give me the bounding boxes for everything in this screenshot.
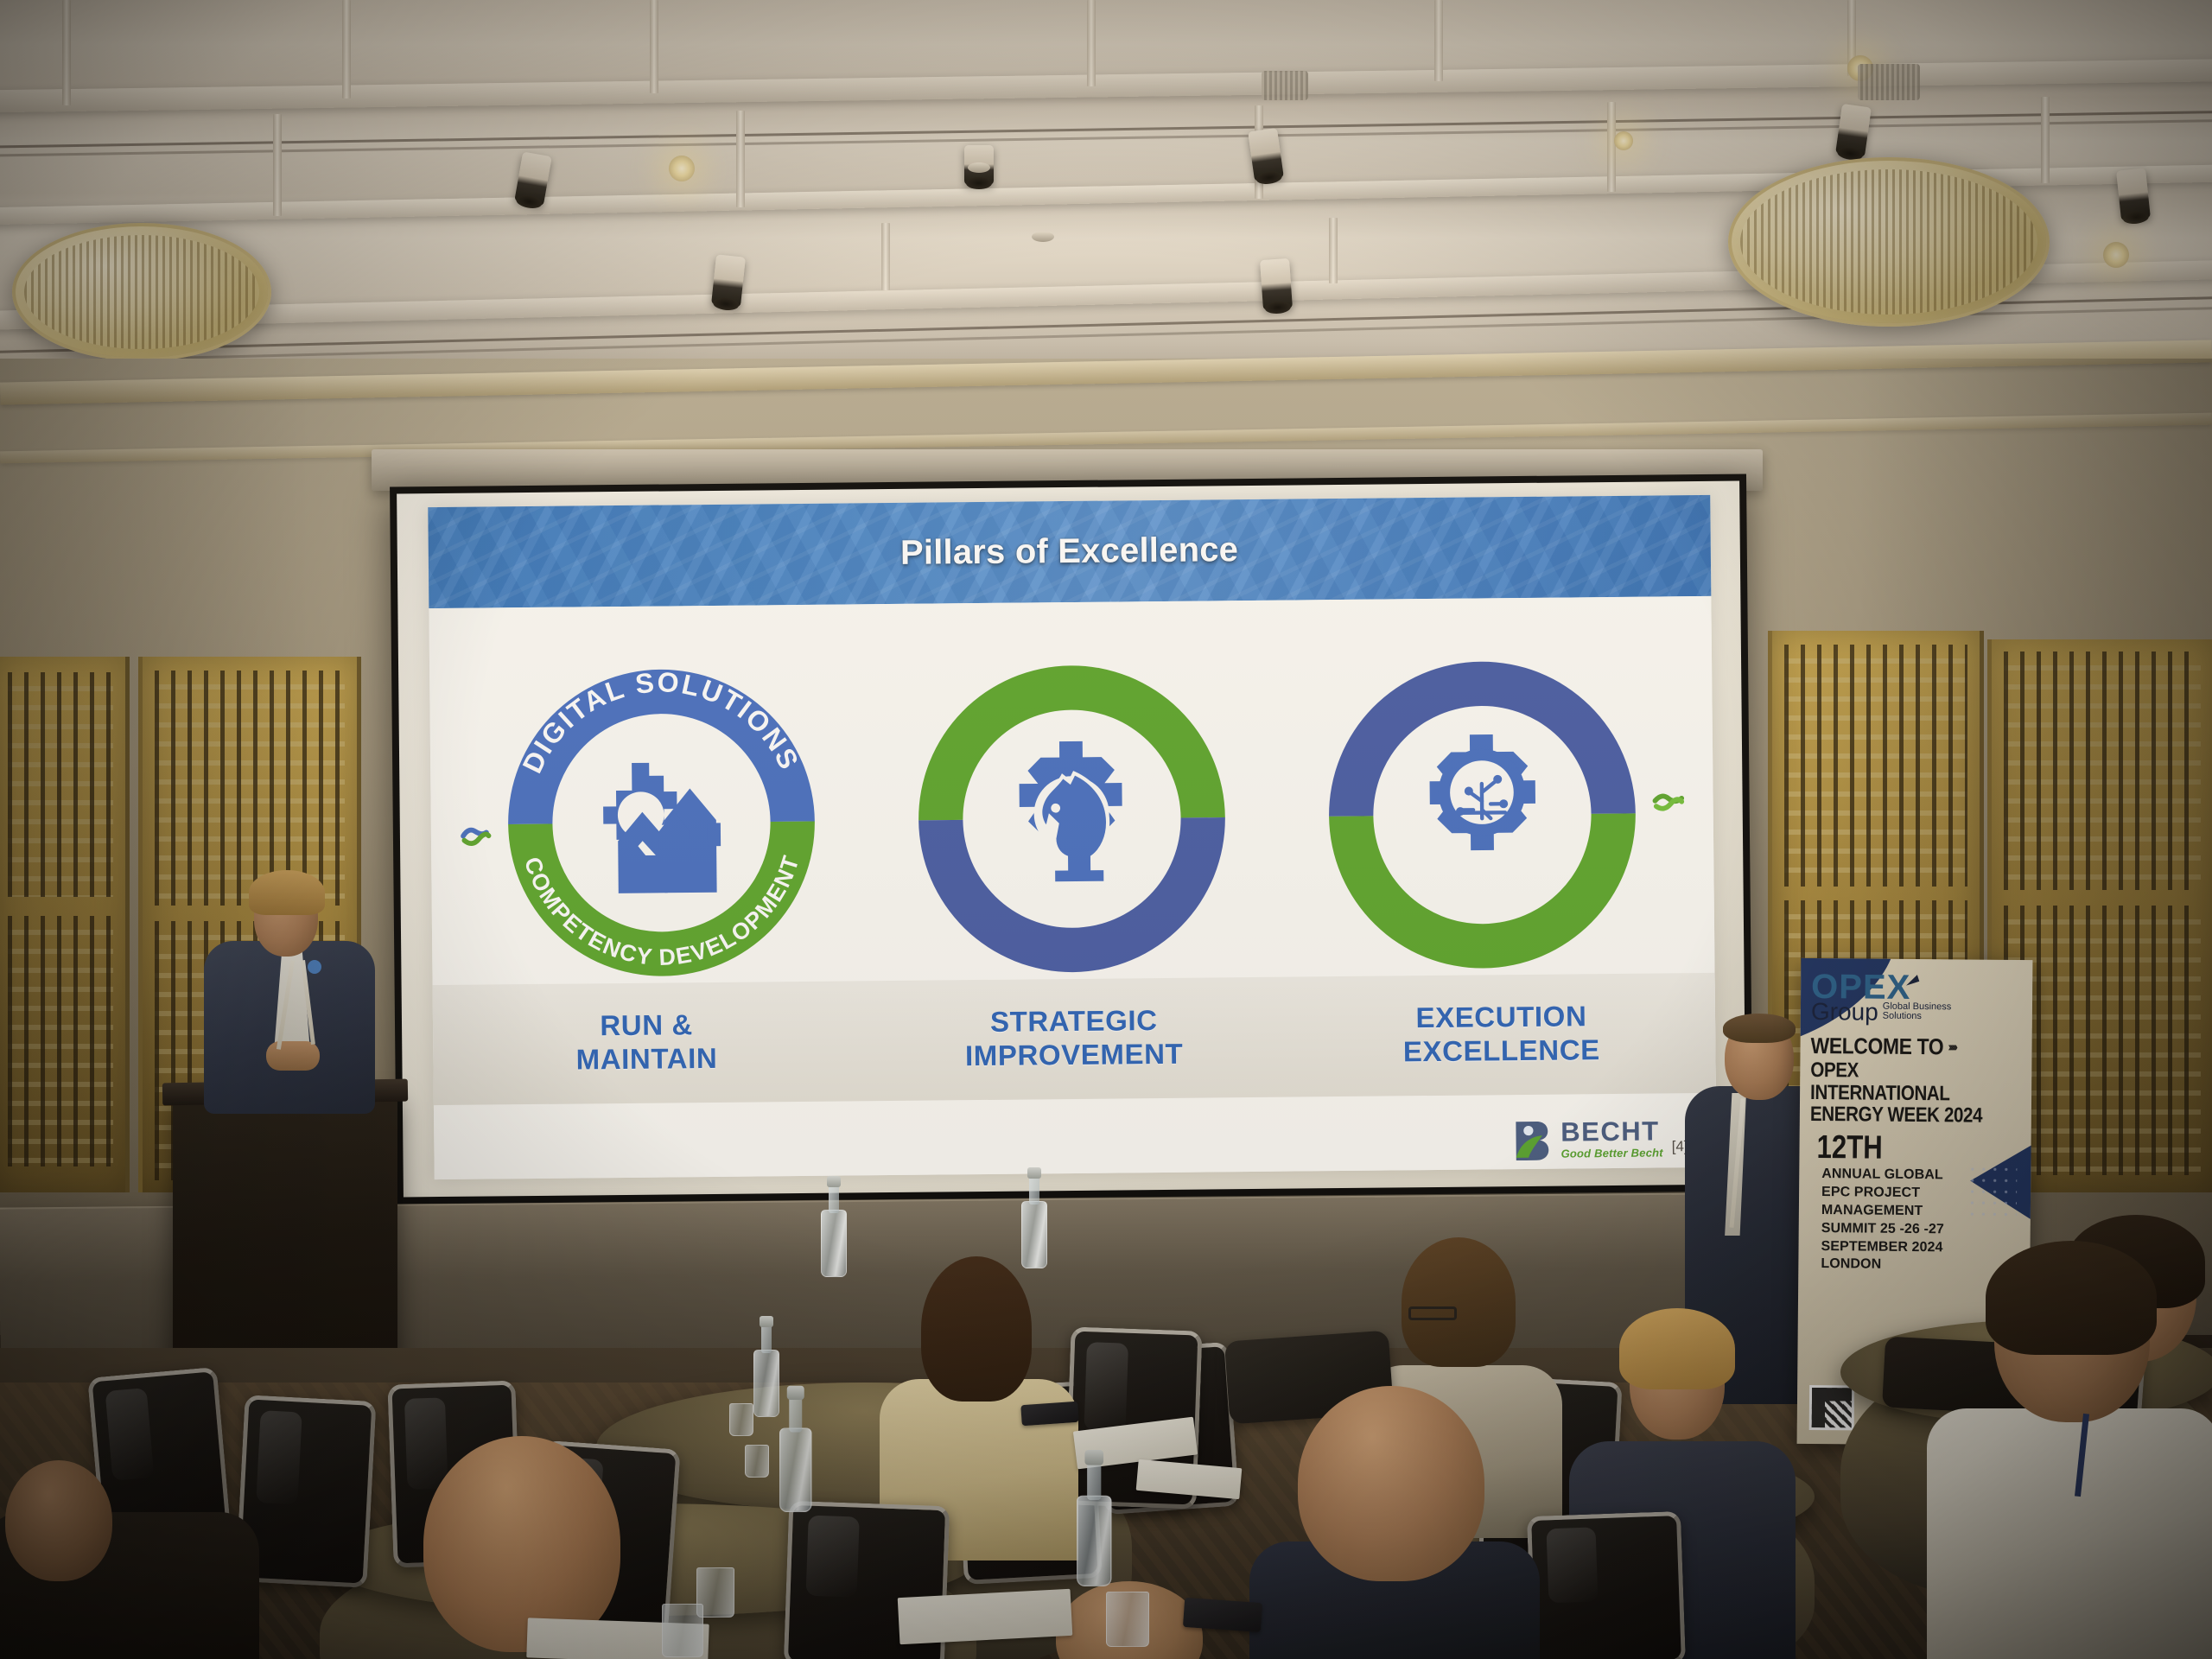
bottle-neck	[1029, 1175, 1039, 1205]
chair-back	[1527, 1511, 1686, 1659]
rope-knot-connector	[1652, 784, 1686, 817]
bottle-body	[779, 1428, 812, 1513]
banner-detail-line: MANAGEMENT	[1821, 1202, 2020, 1222]
mobile-phone[interactable]	[1020, 1402, 1079, 1427]
becht-logo-tagline: Good Better Becht	[1560, 1147, 1662, 1160]
becht-logo-name: BECHT	[1560, 1118, 1663, 1146]
bottle-body	[821, 1210, 847, 1277]
pillar-label-1-line2: MAINTAIN	[575, 1042, 717, 1076]
pillar-label-3-line1: EXECUTION	[1415, 1001, 1586, 1034]
bottle-neck	[789, 1395, 802, 1433]
conference-room-photo: Pillars of Excellence	[0, 0, 2212, 1659]
light-hanger-rod	[62, 0, 71, 105]
rope-knot-connector	[459, 817, 493, 851]
banner-ordinal: 12TH	[1816, 1131, 1984, 1166]
becht-wordmark: BECHT Good Better Becht	[1560, 1118, 1663, 1160]
recessed-downlight	[2103, 242, 2129, 268]
opex-group-line: Group Global Business Solutions	[1811, 1001, 2022, 1026]
bottle-body	[753, 1350, 779, 1417]
pillar-label-2-line2: IMPROVEMENT	[965, 1038, 1184, 1071]
light-hanger-rod	[273, 114, 282, 216]
recessed-downlight	[1614, 131, 1633, 150]
audience-hair	[1986, 1241, 2157, 1355]
opex-descriptor: Global Business Solutions	[1883, 1001, 1952, 1025]
presenter-hair	[249, 870, 325, 915]
bottle-body	[1021, 1201, 1047, 1268]
banner-headline-2: ENERGY WEEK 2024	[1810, 1103, 1992, 1128]
opex-group-logo: OPEX Group Global Business Solutions	[1811, 970, 2023, 1026]
pillar-label-2-line1: STRATEGIC	[990, 1004, 1158, 1038]
banner-welcome-text: WELCOME TO	[1810, 1033, 1943, 1060]
pillar-label-1-line1: RUN &	[600, 1009, 693, 1042]
audience-member	[0, 1460, 259, 1659]
audience-head	[1298, 1386, 1484, 1581]
light-hanger-rod	[1329, 218, 1338, 283]
light-hanger-rod	[342, 0, 351, 99]
pendant-light-right	[1728, 157, 2050, 327]
pillar-ring-3	[1296, 629, 1669, 1001]
pendant-grill	[1740, 169, 2037, 315]
bottle-body	[1077, 1496, 1112, 1586]
chair-highlight	[805, 1515, 860, 1598]
ceiling-spotlight	[711, 254, 746, 307]
gear-circuit-node-icon	[1395, 728, 1570, 903]
pillar-labels-band: RUN & MAINTAIN STRATEGIC IMPROVEMENT EXE…	[432, 973, 1715, 1105]
bottle-neck	[1087, 1460, 1101, 1500]
ceiling-spotlight	[2116, 168, 2151, 220]
light-hanger-rod	[1087, 0, 1096, 86]
pillars-diagram: DIGITAL SOLUTIONS COMPETENCY DEVELOPMENT	[429, 607, 1715, 1031]
chair[interactable]	[1527, 1511, 1686, 1659]
pillar-label-3-line2: EXCELLENCE	[1403, 1033, 1600, 1067]
audience-head	[5, 1460, 112, 1581]
ceiling	[0, 0, 2212, 372]
gear-houses-arrows-icon	[574, 735, 749, 911]
ceiling-vent	[1858, 64, 1920, 100]
banner-headline-1: OPEX INTERNATIONAL	[1810, 1059, 1992, 1106]
audience-member	[1263, 1386, 1522, 1659]
ceiling-rail	[0, 118, 2212, 157]
drinking-glass	[729, 1403, 753, 1436]
audience-body	[1927, 1408, 2212, 1659]
bottle-cap	[787, 1386, 804, 1400]
bottle-neck	[829, 1184, 839, 1213]
chair-highlight	[256, 1411, 302, 1505]
drinking-glass	[745, 1445, 769, 1478]
bottle-cap	[1027, 1167, 1041, 1179]
pendant-grill	[24, 235, 259, 349]
bottle-cap	[760, 1316, 773, 1327]
presenter-lapel-badge	[308, 960, 321, 974]
recessed-downlight	[669, 156, 695, 181]
qr-code	[1809, 1385, 1854, 1430]
ceiling-rail	[0, 110, 2212, 149]
qr-code-pattern	[1812, 1388, 1852, 1427]
eyeglasses-icon	[1408, 1306, 1457, 1320]
pendant-light-left	[12, 223, 271, 361]
light-hanger-rod	[736, 111, 745, 207]
opex-descriptor-line2: Solutions	[1883, 1011, 1922, 1021]
chair-highlight	[1546, 1527, 1598, 1603]
smoke-detector	[1032, 232, 1054, 242]
ceiling-spotlight	[1835, 104, 1872, 157]
pillar-label-1: RUN & MAINTAIN	[433, 1007, 861, 1079]
slide-title: Pillars of Excellence	[900, 531, 1238, 573]
chair-highlight	[1084, 1342, 1129, 1432]
presenter-at-podium	[204, 877, 377, 1110]
drinking-glass	[662, 1604, 703, 1657]
audience-member	[1944, 1244, 2212, 1659]
ceiling-vent	[1262, 71, 1308, 100]
mobile-phone[interactable]	[1183, 1598, 1262, 1632]
slide-body: DIGITAL SOLUTIONS COMPETENCY DEVELOPMENT	[429, 596, 1716, 1179]
light-hanger-rod	[881, 223, 890, 290]
audience-hair	[921, 1256, 1032, 1402]
gear-chess-knight-icon	[984, 732, 1160, 907]
banner-welcome-line: WELCOME TO ›››››	[1810, 1033, 1996, 1061]
drinking-glass	[1106, 1592, 1149, 1647]
becht-logo: BECHT Good Better Becht	[1513, 1117, 1663, 1160]
slide-title-bar: Pillars of Excellence	[428, 495, 1711, 608]
projection-screen: Pillars of Excellence	[390, 474, 1753, 1204]
pillar-ring-1: DIGITAL SOLUTIONS COMPETENCY DEVELOPMENT	[475, 637, 848, 1009]
banner-detail-line: EPC PROJECT	[1821, 1184, 2020, 1204]
standing-attendee-hair	[1723, 1014, 1796, 1043]
banner-detail-line: ANNUAL GLOBAL	[1821, 1166, 2020, 1185]
chevron-arrows-icon: ›››››	[1948, 1039, 1955, 1054]
audience-hair	[1402, 1237, 1516, 1367]
light-hanger-rod	[1607, 102, 1616, 192]
ceiling-spotlight	[1260, 258, 1293, 310]
bottle-neck	[761, 1324, 772, 1353]
presenter-hands	[266, 1041, 320, 1071]
notepad	[898, 1589, 1073, 1644]
screen-surface: Pillars of Excellence	[397, 481, 1746, 1198]
opex-group-text: Group	[1811, 1001, 1878, 1024]
pillar-ring-2	[886, 632, 1258, 1005]
becht-logo-mark	[1513, 1118, 1554, 1160]
light-hanger-rod	[650, 0, 658, 93]
banner-detail-line: SUMMIT 25 -26 -27	[1821, 1220, 2020, 1240]
pillar-label-3: EXECUTION EXCELLENCE	[1287, 999, 1715, 1071]
slide-footer: BECHT Good Better Becht [4]	[1513, 1117, 1688, 1160]
bottle-cap	[1084, 1450, 1103, 1465]
presentation-slide: Pillars of Excellence	[428, 495, 1716, 1179]
audience-hair	[1619, 1308, 1735, 1389]
pillar-label-2: STRATEGIC IMPROVEMENT	[860, 1003, 1287, 1075]
light-hanger-rod	[1434, 0, 1443, 81]
light-hanger-rod	[2041, 97, 2050, 183]
bottle-cap	[827, 1176, 841, 1187]
smoke-detector	[968, 162, 990, 173]
